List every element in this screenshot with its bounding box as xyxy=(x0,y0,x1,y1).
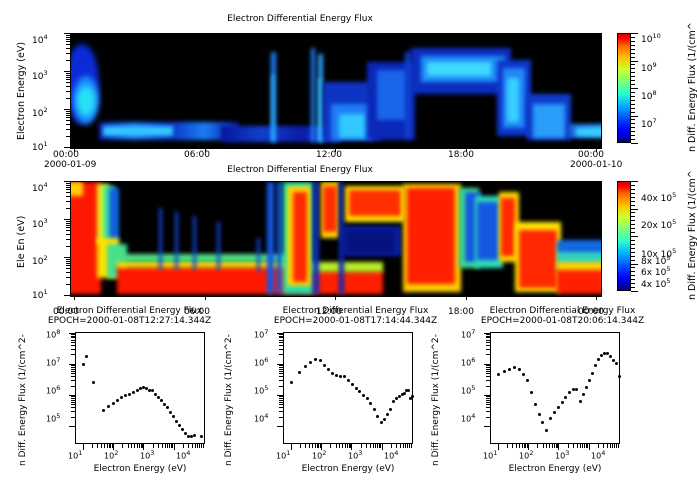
axis-tick xyxy=(631,267,635,268)
flux-spike xyxy=(159,208,162,270)
data-point xyxy=(534,403,537,406)
axis-tick xyxy=(66,115,70,116)
data-point xyxy=(513,366,516,369)
axis-tick xyxy=(396,444,397,448)
axis-tick xyxy=(66,187,70,188)
axis-tick xyxy=(66,225,70,226)
data-point xyxy=(615,362,618,365)
axis-tick xyxy=(66,136,70,137)
panel5-ylabel: n Diff. Energy Flux (1/(cm^2- xyxy=(431,334,441,466)
data-point xyxy=(343,375,346,378)
axis-tick xyxy=(631,197,635,198)
axis-tick xyxy=(279,334,283,335)
data-point xyxy=(314,358,317,361)
axis-tick xyxy=(631,248,635,249)
axis-tick xyxy=(400,444,401,448)
axis-tick xyxy=(370,444,371,448)
axis-tick xyxy=(631,236,638,237)
panel1-ytick-1: 101 xyxy=(32,140,48,153)
data-point xyxy=(124,394,127,397)
axis-tick xyxy=(71,417,75,418)
axis-tick xyxy=(203,444,204,448)
flux-spike xyxy=(175,212,178,270)
axis-tick xyxy=(66,189,70,190)
axis-tick xyxy=(71,376,75,377)
axis-tick xyxy=(631,271,635,272)
axis-tick xyxy=(279,380,283,381)
axis-tick xyxy=(66,48,70,49)
data-point xyxy=(181,428,184,431)
ytick-mantissa: 10 xyxy=(32,36,43,46)
panel4-xtick-2: 102 xyxy=(312,449,326,461)
axis-tick xyxy=(631,279,635,280)
data-point xyxy=(358,390,361,393)
panel4-xtick-4: 104 xyxy=(384,449,398,461)
axis-tick xyxy=(512,444,513,448)
data-point xyxy=(609,355,612,358)
axis-tick xyxy=(631,119,635,120)
axis-tick xyxy=(631,287,635,288)
axis-tick xyxy=(64,147,70,148)
flux-spike xyxy=(272,74,274,142)
axis-tick xyxy=(631,193,635,194)
axis-tick xyxy=(66,39,70,40)
panel4-ytick-7: 107 xyxy=(254,328,268,340)
axis-tick xyxy=(631,216,635,217)
data-point xyxy=(618,375,621,378)
data-point xyxy=(575,388,578,391)
axis-tick xyxy=(631,201,635,202)
axis-tick xyxy=(66,208,70,209)
panel1-cbartick-0: 107 xyxy=(641,117,657,130)
axis-tick xyxy=(631,143,638,144)
axis-tick xyxy=(336,444,337,448)
axis-tick xyxy=(279,337,283,338)
panel4-plot-area[interactable] xyxy=(283,332,413,444)
axis-tick xyxy=(631,84,635,85)
axis-tick xyxy=(66,277,70,278)
panel1-colorbar[interactable] xyxy=(617,33,631,143)
flux-region xyxy=(427,62,491,76)
flux-region xyxy=(407,188,455,284)
axis-tick xyxy=(205,147,206,152)
axis-tick xyxy=(309,444,310,448)
flux-spike xyxy=(313,182,319,294)
axis-tick xyxy=(607,444,608,448)
axis-tick xyxy=(104,444,105,448)
axis-tick xyxy=(279,411,283,412)
axis-tick xyxy=(71,386,75,387)
data-point xyxy=(518,368,521,371)
axis-tick xyxy=(466,147,467,152)
flux-region xyxy=(405,52,411,138)
panel3-subtitle: EPOCH=2000-01-08T12:27:14.344Z xyxy=(22,316,237,326)
axis-tick xyxy=(486,386,490,387)
axis-tick xyxy=(66,223,70,224)
axis-tick xyxy=(66,265,70,266)
data-point xyxy=(82,363,85,366)
data-point xyxy=(497,373,500,376)
data-point xyxy=(568,391,571,394)
axis-tick xyxy=(631,189,635,190)
panel3-plot-area[interactable] xyxy=(75,332,205,444)
axis-tick xyxy=(631,100,635,101)
axis-tick xyxy=(279,404,283,405)
cbar-exponent: 5 xyxy=(672,191,676,199)
axis-tick xyxy=(71,340,75,341)
cbar-exponent: 10 xyxy=(652,32,660,40)
axis-tick xyxy=(631,116,638,117)
axis-tick xyxy=(522,444,523,448)
axis-tick xyxy=(589,444,590,450)
cbar-exponent: 9 xyxy=(652,61,656,69)
axis-tick xyxy=(66,117,70,118)
flux-region xyxy=(533,104,565,138)
axis-tick xyxy=(631,224,635,225)
data-point xyxy=(335,374,338,377)
axis-tick xyxy=(516,444,517,448)
panel3-title: Electron Differential Energy Flux xyxy=(22,306,237,316)
axis-tick xyxy=(631,139,635,140)
panel2-colorbar-label: n Diff. Energy Flux (1/(cm^ xyxy=(687,170,697,300)
flux-spike xyxy=(217,222,220,270)
axis-tick xyxy=(631,240,635,241)
axis-tick xyxy=(66,41,70,42)
axis-tick xyxy=(486,373,490,374)
data-point xyxy=(508,368,511,371)
axis-tick xyxy=(64,181,70,182)
cbar-exponent: 8 xyxy=(652,89,656,97)
data-point xyxy=(386,413,389,416)
axis-tick xyxy=(580,444,581,448)
axis-tick xyxy=(584,444,585,448)
axis-tick xyxy=(279,342,283,343)
axis-tick xyxy=(382,444,383,450)
panel1-xtick-1: 06:00 xyxy=(184,150,210,160)
data-point xyxy=(522,373,525,376)
axis-tick xyxy=(486,402,490,403)
axis-tick xyxy=(631,68,635,69)
axis-tick xyxy=(631,220,635,221)
axis-tick xyxy=(279,345,283,346)
cbar-mantissa: 10 xyxy=(641,35,652,45)
panel1-xtick-0: 00:00 xyxy=(53,150,79,160)
ytick-exponent: 4 xyxy=(43,181,47,189)
axis-tick xyxy=(66,221,70,222)
axis-tick xyxy=(192,444,193,448)
flux-region xyxy=(339,114,365,138)
panel5-xlabel: Electron Energy (eV) xyxy=(490,464,620,474)
axis-tick xyxy=(64,295,70,296)
axis-tick xyxy=(603,444,604,448)
panel1-title: Electron Differential Energy Flux xyxy=(0,14,600,24)
axis-tick xyxy=(279,371,283,372)
flux-spike xyxy=(311,48,315,142)
axis-tick xyxy=(66,272,70,273)
axis-tick xyxy=(631,256,635,257)
ytick-mantissa: 10 xyxy=(32,109,43,119)
axis-tick xyxy=(631,212,635,213)
axis-tick xyxy=(66,259,70,260)
axis-tick xyxy=(279,400,283,401)
axis-tick xyxy=(631,53,635,54)
flux-region xyxy=(293,192,307,282)
panel1-ytick-4: 104 xyxy=(32,33,48,46)
axis-tick xyxy=(183,444,184,448)
axis-tick xyxy=(486,336,490,337)
axis-tick xyxy=(277,426,283,427)
axis-tick xyxy=(128,444,129,448)
data-point xyxy=(92,381,95,384)
flux-blob xyxy=(77,86,95,116)
axis-tick xyxy=(631,37,635,38)
axis-tick xyxy=(137,444,138,448)
axis-tick xyxy=(315,444,316,448)
axis-tick xyxy=(631,88,638,89)
axis-tick xyxy=(279,336,283,337)
axis-tick xyxy=(131,444,132,448)
axis-tick xyxy=(66,124,70,125)
axis-tick xyxy=(195,444,196,448)
axis-tick xyxy=(631,232,635,233)
flux-region xyxy=(501,198,515,256)
panel5-plot-area[interactable] xyxy=(490,332,620,444)
cbar-mantissa: 40x 10 xyxy=(641,194,672,204)
axis-tick xyxy=(528,444,529,450)
panel1-xtick-4: 00:00 xyxy=(578,150,604,160)
axis-tick xyxy=(300,444,301,448)
data-point xyxy=(564,396,567,399)
axis-tick xyxy=(71,396,75,397)
axis-tick xyxy=(631,275,635,276)
axis-tick xyxy=(71,407,75,408)
axis-tick xyxy=(169,444,170,448)
axis-tick xyxy=(525,444,526,448)
axis-tick xyxy=(66,73,70,74)
axis-tick xyxy=(486,342,490,343)
axis-tick xyxy=(405,444,406,448)
axis-tick xyxy=(64,257,70,258)
data-point xyxy=(175,420,178,423)
flux-region xyxy=(519,230,557,288)
axis-tick xyxy=(484,364,490,365)
axis-tick xyxy=(66,35,70,36)
axis-tick xyxy=(610,444,611,448)
axis-tick xyxy=(312,444,313,448)
panel2-ytick-4: 104 xyxy=(32,181,48,194)
panel2-ytick-2: 102 xyxy=(32,254,48,267)
data-point xyxy=(561,401,564,404)
axis-tick xyxy=(64,33,70,34)
panel5-ytick-7: 107 xyxy=(461,328,475,340)
axis-tick xyxy=(71,380,75,381)
data-point xyxy=(151,389,154,392)
axis-tick xyxy=(631,57,635,58)
axis-tick xyxy=(74,295,75,300)
ytick-exponent: 3 xyxy=(43,69,47,77)
ytick-exponent: 1 xyxy=(43,288,47,296)
axis-tick xyxy=(279,407,283,408)
data-point xyxy=(541,421,544,424)
axis-tick xyxy=(66,120,70,121)
axis-tick xyxy=(631,64,635,65)
axis-tick xyxy=(66,44,70,45)
data-point xyxy=(132,391,135,394)
axis-tick xyxy=(631,205,635,206)
axis-tick xyxy=(484,426,490,427)
data-point xyxy=(323,364,326,367)
flux-spike xyxy=(277,182,282,294)
panel5-ytick-4: 104 xyxy=(461,412,475,424)
axis-tick xyxy=(71,342,75,343)
axis-tick xyxy=(554,444,555,448)
axis-tick xyxy=(631,252,635,253)
axis-tick xyxy=(631,228,635,229)
data-point xyxy=(591,372,594,375)
axis-tick xyxy=(631,76,635,77)
flux-region xyxy=(507,78,519,122)
axis-tick xyxy=(486,398,490,399)
axis-tick xyxy=(631,112,635,113)
axis-tick xyxy=(568,444,569,448)
axis-tick xyxy=(66,129,70,130)
ytick-mantissa: 10 xyxy=(32,220,43,230)
panel1-plot-area[interactable] xyxy=(70,33,602,149)
data-point xyxy=(373,408,376,411)
axis-tick xyxy=(486,365,490,366)
panel3-xtick-1: 101 xyxy=(68,449,82,461)
flux-spike xyxy=(267,182,274,294)
axis-tick xyxy=(66,79,70,80)
panel2-colorbar[interactable] xyxy=(617,181,631,291)
axis-tick xyxy=(279,386,283,387)
axis-tick xyxy=(66,60,70,61)
panel2-ylabel: Ele En (eV) xyxy=(16,216,27,268)
axis-tick xyxy=(342,444,343,448)
axis-tick xyxy=(66,75,70,76)
axis-tick xyxy=(279,398,283,399)
axis-tick xyxy=(66,227,70,228)
ytick-exponent: 1 xyxy=(43,140,47,148)
axis-tick xyxy=(199,444,200,448)
data-point xyxy=(339,375,342,378)
axis-tick xyxy=(167,444,168,448)
flux-region xyxy=(323,186,337,232)
axis-tick xyxy=(64,71,70,72)
panel5-xtick-2: 102 xyxy=(519,449,533,461)
axis-tick xyxy=(66,86,70,87)
axis-tick xyxy=(92,444,93,448)
axis-tick xyxy=(631,45,635,46)
axis-tick xyxy=(596,147,597,152)
axis-tick xyxy=(618,444,619,448)
axis-tick xyxy=(631,72,635,73)
panel3-ytick-5: 105 xyxy=(46,412,60,424)
data-point xyxy=(403,392,406,395)
axis-tick xyxy=(631,123,635,124)
axis-tick xyxy=(279,373,283,374)
axis-tick xyxy=(122,444,123,448)
axis-tick xyxy=(74,147,75,152)
panel2-cbartick-4: 20x 105 xyxy=(641,218,676,231)
axis-tick xyxy=(631,264,638,265)
axis-tick xyxy=(335,295,336,300)
panel2-cbartick-0: 4x 105 xyxy=(641,277,671,290)
axis-tick xyxy=(64,109,70,110)
axis-tick xyxy=(631,127,635,128)
axis-tick xyxy=(71,402,75,403)
ytick-mantissa: 10 xyxy=(32,184,43,194)
axis-tick xyxy=(66,111,70,112)
ytick-mantissa: 10 xyxy=(32,143,43,153)
ytick-mantissa: 10 xyxy=(32,291,43,301)
data-point xyxy=(327,368,330,371)
data-point xyxy=(128,393,131,396)
flux-region xyxy=(349,190,401,216)
axis-tick xyxy=(361,444,362,448)
data-point xyxy=(579,400,582,403)
axis-tick xyxy=(69,426,75,427)
axis-tick xyxy=(486,400,490,401)
cbar-exponent: 7 xyxy=(652,117,656,125)
flux-band xyxy=(576,128,602,136)
axis-tick xyxy=(134,444,135,448)
axis-tick xyxy=(66,53,70,54)
axis-tick xyxy=(291,444,292,450)
axis-tick xyxy=(66,82,70,83)
data-point xyxy=(178,424,181,427)
panel4-title: Electron Differential Energy Flux xyxy=(248,306,463,316)
axis-tick xyxy=(391,444,392,448)
panel1-cbartick-1: 108 xyxy=(641,89,657,102)
axis-tick xyxy=(519,444,520,448)
axis-tick xyxy=(279,354,283,355)
panel3-ytick-7: 107 xyxy=(46,356,60,368)
axis-tick xyxy=(153,444,154,448)
panel1-cbartick-3: 1010 xyxy=(641,32,661,45)
panel2-ytick-1: 101 xyxy=(32,288,48,301)
axis-tick xyxy=(631,181,638,182)
panel2-plot-area[interactable] xyxy=(70,181,602,297)
data-point xyxy=(389,408,392,411)
axis-tick xyxy=(97,444,98,448)
axis-tick xyxy=(507,444,508,448)
cbar-exponent: 5 xyxy=(672,247,676,255)
data-point xyxy=(383,418,386,421)
axis-tick xyxy=(66,98,70,99)
axis-tick xyxy=(486,354,490,355)
axis-tick xyxy=(596,295,597,300)
data-point xyxy=(172,415,175,418)
axis-tick xyxy=(66,113,70,114)
axis-tick xyxy=(66,230,70,231)
axis-tick xyxy=(631,49,635,50)
ytick-exponent: 2 xyxy=(43,254,47,262)
axis-tick xyxy=(66,234,70,235)
axis-tick xyxy=(71,371,75,372)
panel1-xtick-3: 18:00 xyxy=(448,150,474,160)
axis-tick xyxy=(631,92,635,93)
axis-tick xyxy=(345,444,346,448)
axis-tick xyxy=(486,349,490,350)
flux-region xyxy=(109,188,119,242)
flux-band xyxy=(557,266,602,294)
cbar-mantissa: 20x 10 xyxy=(641,221,672,231)
axis-tick xyxy=(279,417,283,418)
axis-tick xyxy=(66,239,70,240)
axis-tick xyxy=(486,376,490,377)
axis-tick xyxy=(631,244,635,245)
